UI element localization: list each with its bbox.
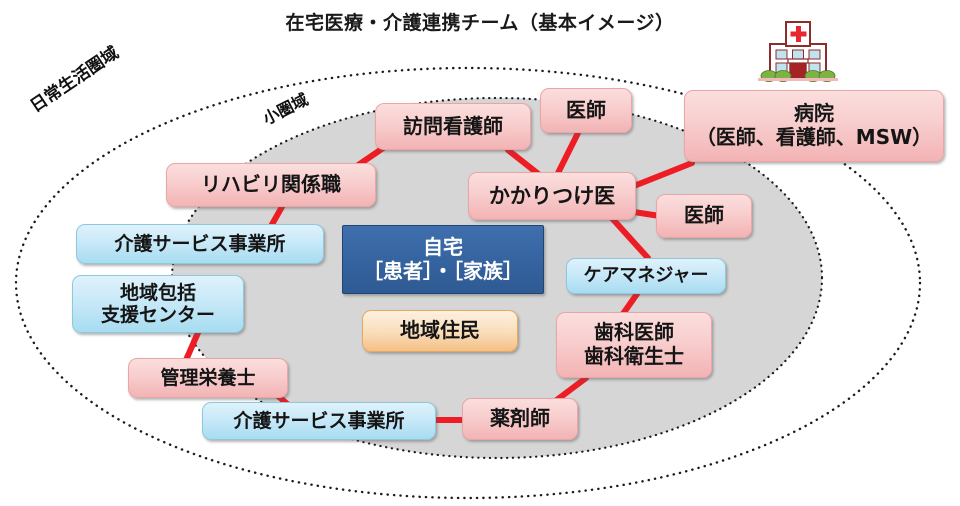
node-pharmacist[interactable]: 薬剤師	[462, 398, 578, 440]
node-label-line2: 歯科衛生士	[584, 345, 684, 369]
diagram-canvas: 在宅医療・介護連携チーム（基本イメージ） 日常生活圏域 小圏域	[0, 0, 960, 506]
link-ishitop-kakaritsuke	[556, 133, 578, 177]
node-doctor-top[interactable]: 医師	[540, 88, 632, 133]
node-label: かかりつけ医	[489, 184, 615, 209]
link-byouin-kakaritsuke	[634, 163, 692, 186]
node-care-service-office-upper[interactable]: 介護サービス事業所	[76, 224, 324, 264]
node-label: 介護サービス事業所	[233, 410, 404, 432]
node-label-line2: ［患者］・［家族］	[363, 260, 523, 284]
node-doctor-right[interactable]: 医師	[656, 194, 752, 238]
node-visiting-nurse[interactable]: 訪問看護師	[375, 103, 531, 150]
node-label: リハビリ関係職	[201, 173, 341, 197]
node-label: 介護サービス事業所	[114, 233, 285, 255]
node-dentist-hygienist[interactable]: 歯科医師 歯科衛生士	[556, 312, 712, 378]
node-rehabilitation-staff[interactable]: リハビリ関係職	[166, 163, 376, 207]
node-label: 薬剤師	[490, 407, 550, 431]
node-label: 地域住民	[400, 319, 480, 343]
link-kakaritsuke-caremanager	[610, 216, 648, 258]
node-care-service-office-lower[interactable]: 介護サービス事業所	[202, 402, 436, 440]
node-label: 管理栄養士	[160, 367, 255, 389]
node-label-line1: 地域包括	[120, 282, 196, 304]
node-label-line2: （医師、看護師、MSW）	[696, 126, 932, 150]
node-label-line2: 支援センター	[101, 304, 215, 326]
node-family-doctor[interactable]: かかりつけ医	[468, 172, 636, 220]
node-community-support-center[interactable]: 地域包括 支援センター	[72, 275, 244, 333]
node-care-manager[interactable]: ケアマネジャー	[566, 258, 726, 294]
node-label: ケアマネジャー	[583, 265, 708, 286]
node-label: 医師	[684, 204, 724, 228]
node-label: 訪問看護師	[403, 115, 503, 139]
node-label-line1: 病院	[794, 102, 834, 126]
node-home-patient-family[interactable]: 自宅 ［患者］・［家族］	[342, 225, 544, 294]
node-label: 医師	[566, 99, 606, 123]
node-local-residents[interactable]: 地域住民	[362, 310, 518, 352]
node-label-line1: 歯科医師	[594, 321, 674, 345]
node-hospital[interactable]: 病院 （医師、看護師、MSW）	[684, 90, 944, 162]
node-registered-dietitian[interactable]: 管理栄養士	[128, 358, 288, 398]
hospital-building-icon	[752, 18, 844, 90]
node-label-line1: 自宅	[423, 236, 463, 260]
